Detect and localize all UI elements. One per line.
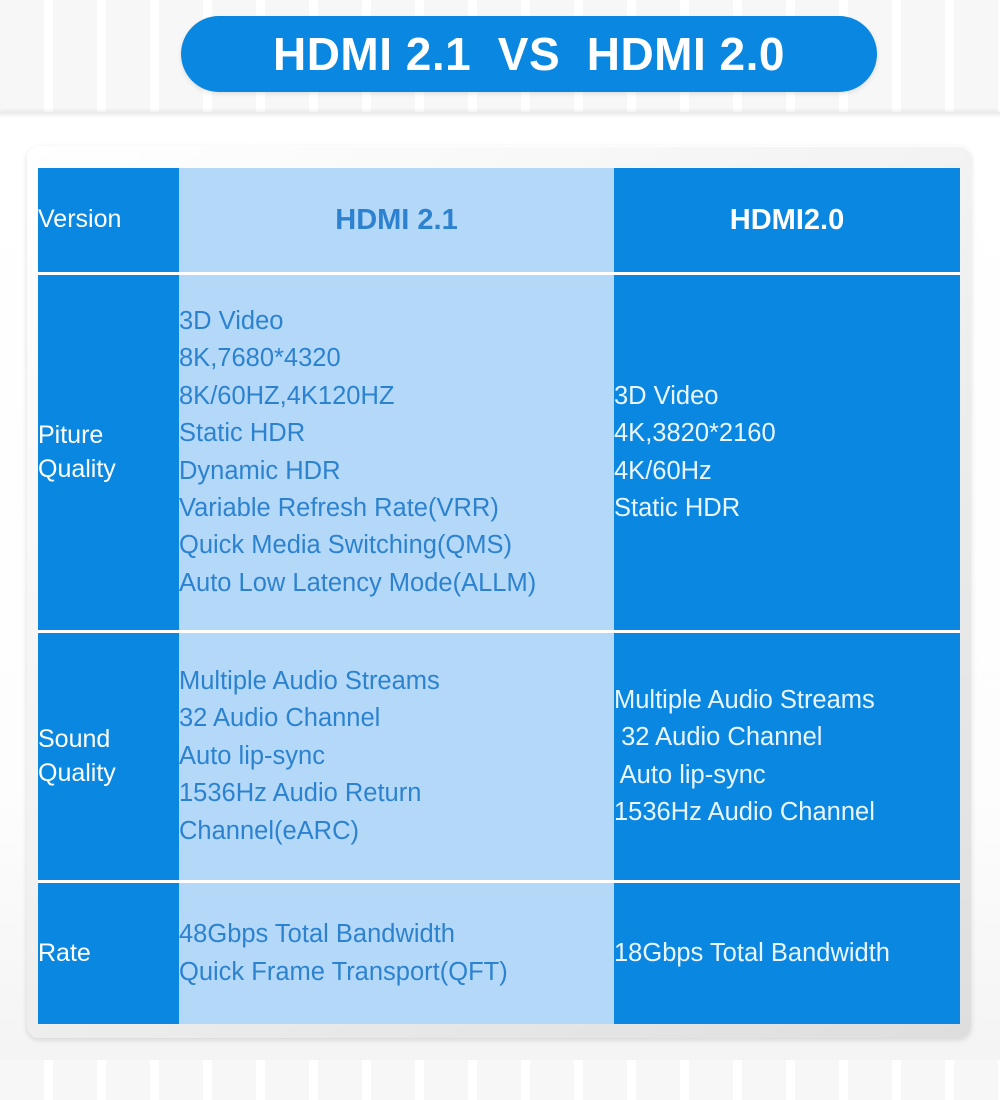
row-label-line: Rate	[38, 937, 179, 971]
feature-line: 32 Audio Channel	[179, 700, 614, 737]
comparison-table: Version HDMI 2.1 HDMI2.0 Piture Quality	[38, 168, 960, 1024]
feature-line: 3D Video	[179, 303, 614, 340]
cell-rate-hdmi21: 48Gbps Total Bandwidth Quick Frame Trans…	[179, 883, 614, 1024]
feature-line: Multiple Audio Streams	[179, 663, 614, 700]
header-hdmi21-label: HDMI 2.1	[335, 204, 457, 236]
cell-picture-hdmi21: 3D Video 8K,7680*4320 8K/60HZ,4K120HZ St…	[179, 275, 614, 630]
header-hdmi20-cell: HDMI2.0	[614, 168, 960, 272]
feature-line: 1536Hz Audio Return	[179, 775, 614, 812]
row-label-picture-quality: Piture Quality	[38, 275, 179, 630]
table-row: Rate 48Gbps Total Bandwidth Quick Frame …	[38, 883, 960, 1024]
feature-line: 48Gbps Total Bandwidth	[179, 916, 614, 953]
feature-line: 8K/60HZ,4K120HZ	[179, 378, 614, 415]
table-row: Sound Quality Multiple Audio Streams 32 …	[38, 633, 960, 880]
feature-line: Static HDR	[179, 415, 614, 452]
page-background: HDMI 2.1 VS HDMI 2.0 Version HDMI 2.1 HD…	[0, 0, 1000, 1100]
header-version-label: Version	[38, 205, 121, 233]
header-hdmi20-label: HDMI2.0	[730, 204, 844, 236]
cell-sound-hdmi20: Multiple Audio Streams 32 Audio Channel …	[614, 633, 960, 880]
row-label-line: Quality	[38, 453, 179, 487]
feature-line: 18Gbps Total Bandwidth	[614, 935, 960, 972]
feature-line: 8K,7680*4320	[179, 340, 614, 377]
header-hdmi21-cell: HDMI 2.1	[179, 168, 614, 272]
feature-line: 32 Audio Channel	[614, 719, 960, 756]
feature-line: Channel(eARC)	[179, 813, 614, 850]
row-label-sound-quality: Sound Quality	[38, 633, 179, 880]
feature-line: 4K/60Hz	[614, 453, 960, 490]
row-label-line: Quality	[38, 757, 179, 791]
row-label-line: Piture	[38, 419, 179, 453]
feature-line: Auto lip-sync	[179, 738, 614, 775]
cell-picture-hdmi20: 3D Video 4K,3820*2160 4K/60Hz Static HDR	[614, 275, 960, 630]
feature-line: Auto Low Latency Mode(ALLM)	[179, 565, 614, 602]
feature-line: Dynamic HDR	[179, 453, 614, 490]
feature-line: 3D Video	[614, 378, 960, 415]
feature-line: Quick Media Switching(QMS)	[179, 527, 614, 564]
table-row: Piture Quality 3D Video 8K,7680*4320 8K/…	[38, 275, 960, 630]
feature-line: Multiple Audio Streams	[614, 682, 960, 719]
page-title: HDMI 2.1 VS HDMI 2.0	[273, 31, 785, 77]
header-version-cell: Version	[38, 168, 179, 272]
title-banner: HDMI 2.1 VS HDMI 2.0	[181, 16, 877, 92]
feature-line: 1536Hz Audio Channel	[614, 794, 960, 831]
feature-line: Static HDR	[614, 490, 960, 527]
row-label-rate: Rate	[38, 883, 179, 1024]
feature-line: Auto lip-sync	[614, 757, 960, 794]
feature-line: 4K,3820*2160	[614, 415, 960, 452]
feature-line: Quick Frame Transport(QFT)	[179, 954, 614, 991]
cell-sound-hdmi21: Multiple Audio Streams 32 Audio Channel …	[179, 633, 614, 880]
feature-line: Variable Refresh Rate(VRR)	[179, 490, 614, 527]
row-label-line: Sound	[38, 723, 179, 757]
table-header-row: Version HDMI 2.1 HDMI2.0	[38, 168, 960, 272]
cell-rate-hdmi20: 18Gbps Total Bandwidth	[614, 883, 960, 1024]
